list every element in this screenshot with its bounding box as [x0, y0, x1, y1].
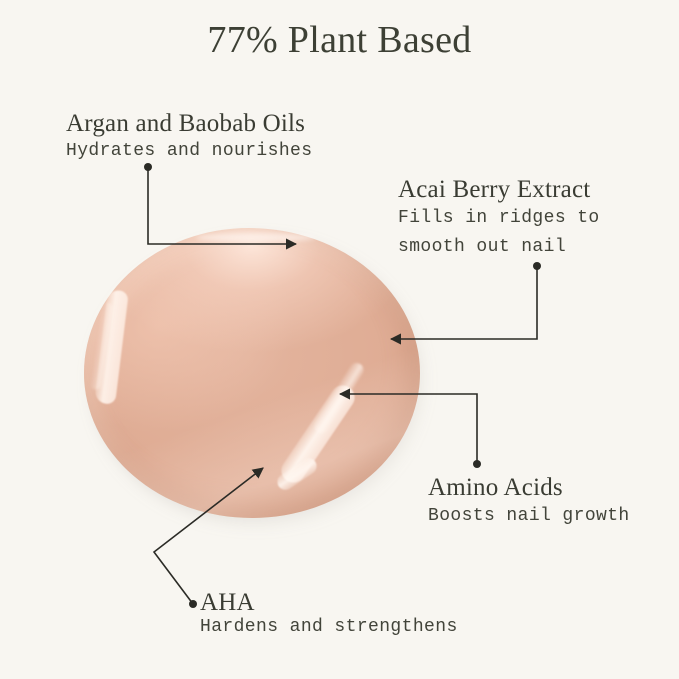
annotation-description-amino-acids: Boosts nail growth [428, 506, 630, 526]
annotation-title-aha: AHA [200, 589, 255, 617]
infographic-root: 77% Plant Based [0, 0, 679, 679]
annotation-description-argan-baobab-oils: Hydrates and nourishes [66, 141, 312, 161]
droplet-body [84, 228, 420, 518]
annotation-description-acai-berry-extract-line2: smooth out nail [398, 237, 566, 257]
page-title: 77% Plant Based [0, 18, 679, 62]
annotation-description-aha: Hardens and strengthens [200, 617, 458, 637]
droplet-top-highlight [196, 233, 316, 242]
annotation-description-acai-berry-extract-line1: Fills in ridges to [398, 208, 600, 228]
serum-droplet [84, 228, 424, 524]
annotation-title-amino-acids: Amino Acids [428, 474, 563, 502]
annotation-title-argan-baobab-oils: Argan and Baobab Oils [66, 110, 305, 138]
annotation-title-acai-berry-extract: Acai Berry Extract [398, 176, 590, 204]
